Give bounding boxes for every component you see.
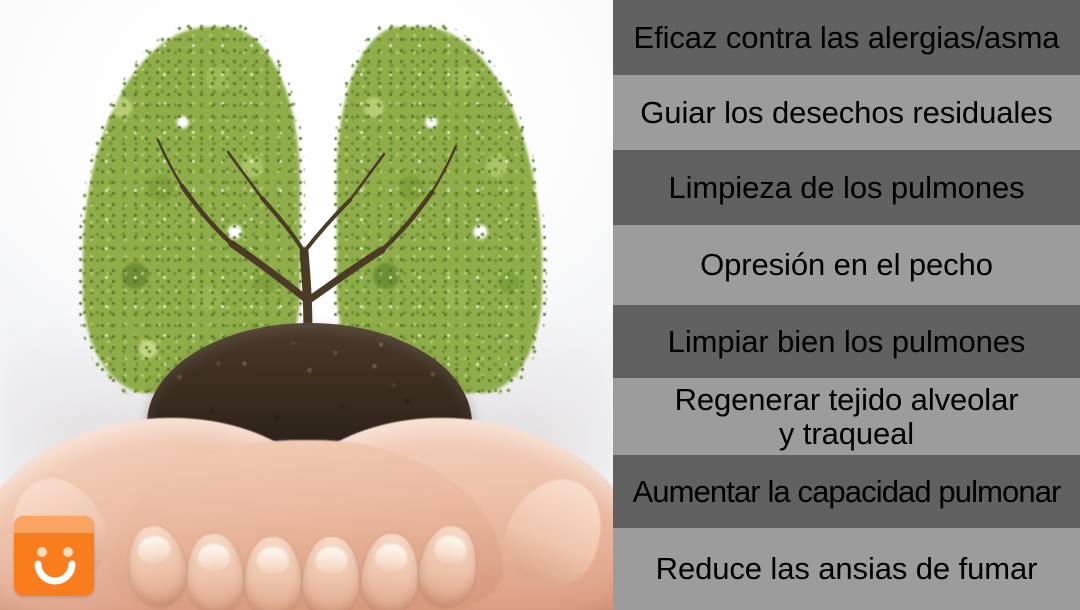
smiley-bag-logo-icon xyxy=(14,516,94,596)
slide-canvas: Eficaz contra las alergias/asma Guiar lo… xyxy=(0,0,1080,610)
lung-tree-photo xyxy=(0,0,613,610)
caption-text: Limpieza de los pulmones xyxy=(668,171,1024,204)
caption-bar-6: Regenerar tejido alveolar y traqueal xyxy=(613,378,1080,455)
caption-bar-8: Reduce las ansias de fumar xyxy=(613,528,1080,610)
fingernail xyxy=(137,534,173,566)
caption-text: Limpiar bien los pulmones xyxy=(668,325,1026,358)
caption-bar-4: Opresión en el pecho xyxy=(613,225,1080,305)
caption-text: Regenerar tejido alveolar y traqueal xyxy=(675,383,1019,450)
caption-text: Aumentar la capacidad pulmonar xyxy=(633,475,1061,508)
fingernail xyxy=(374,543,408,573)
fingernail xyxy=(197,543,230,573)
fingernail xyxy=(316,546,349,574)
caption-bar-list: Eficaz contra las alergias/asma Guiar lo… xyxy=(613,0,1080,610)
caption-text: Guiar los desechos residuales xyxy=(640,96,1052,129)
caption-bar-2: Guiar los desechos residuales xyxy=(613,75,1080,150)
caption-text: Reduce las ansias de fumar xyxy=(656,552,1038,585)
caption-bar-7: Aumentar la capacidad pulmonar xyxy=(613,455,1080,528)
caption-text: Eficaz contra las alergias/asma xyxy=(634,21,1060,54)
fingernail xyxy=(433,534,469,566)
caption-bar-3: Limpieza de los pulmones xyxy=(613,150,1080,225)
fingernail xyxy=(257,546,289,574)
caption-bar-1: Eficaz contra las alergias/asma xyxy=(613,0,1080,75)
caption-text: Opresión en el pecho xyxy=(700,248,993,281)
caption-bar-5: Limpiar bien los pulmones xyxy=(613,305,1080,378)
